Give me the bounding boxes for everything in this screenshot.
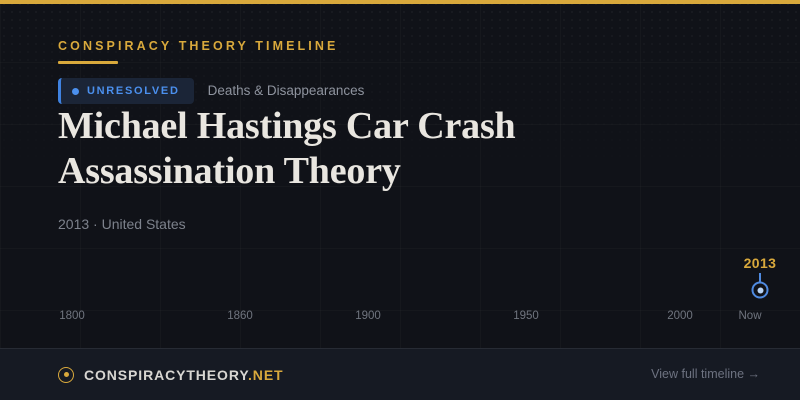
top-accent-bar: [0, 0, 800, 4]
timeline-tick-1860: 1860: [227, 309, 253, 323]
brand-main: CONSPIRACYTHEORY: [84, 367, 248, 383]
timeline-marker[interactable]: [752, 282, 769, 299]
article-subtitle: 2013 · United States: [58, 215, 186, 233]
theory-card: CONSPIRACY THEORY TIMELINE UNRESOLVED De…: [0, 0, 800, 400]
timeline-track[interactable]: [58, 289, 742, 291]
title-line-1: Michael Hastings Car Crash: [58, 104, 760, 149]
meta-row: UNRESOLVED Deaths & Disappearances: [58, 78, 364, 104]
eye-logo-icon: [58, 367, 74, 383]
timeline-tick-1800: 1800: [59, 309, 85, 323]
timeline-marker-label: 2013: [744, 255, 777, 271]
timeline-tick-2000: 2000: [667, 309, 693, 323]
page-title: Michael Hastings Car Crash Assassination…: [58, 104, 760, 194]
timeline-widget[interactable]: 2013 18001860190019502000Now: [58, 255, 760, 325]
brand-text: CONSPIRACYTHEORY.NET: [84, 367, 284, 383]
category-label: Deaths & Disappearances: [208, 83, 365, 99]
kicker-underline: [58, 61, 118, 64]
title-line-2: Assassination Theory: [58, 149, 760, 194]
timeline-tick-labels: 18001860190019502000Now: [58, 309, 760, 325]
status-dot-icon: [72, 88, 79, 95]
timeline-tick-1900: 1900: [355, 309, 381, 323]
card-content: CONSPIRACY THEORY TIMELINE UNRESOLVED De…: [58, 0, 760, 400]
timeline-tick-1950: 1950: [513, 309, 539, 323]
footer-bar: CONSPIRACYTHEORY.NET View full timeline …: [0, 348, 800, 400]
status-badge[interactable]: UNRESOLVED: [58, 78, 194, 104]
kicker-label: CONSPIRACY THEORY TIMELINE: [58, 38, 338, 54]
kicker-block: CONSPIRACY THEORY TIMELINE: [58, 38, 338, 64]
brand[interactable]: CONSPIRACYTHEORY.NET: [58, 367, 284, 383]
timeline-marker-ring: [752, 282, 769, 299]
timeline-tick-now: Now: [738, 309, 761, 323]
brand-tld: .NET: [248, 367, 284, 383]
status-badge-label: UNRESOLVED: [87, 85, 180, 98]
timeline-marker-core: [757, 287, 763, 293]
view-full-timeline-link[interactable]: View full timeline →: [651, 367, 760, 382]
